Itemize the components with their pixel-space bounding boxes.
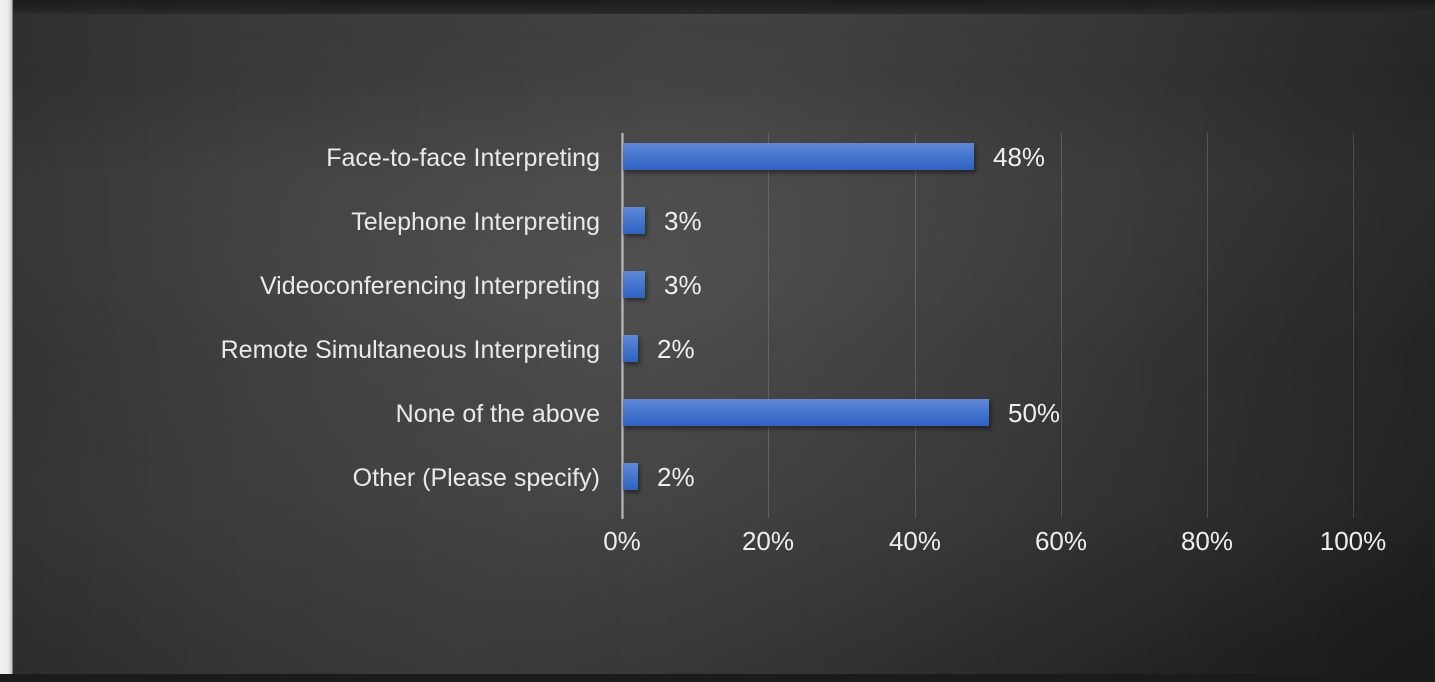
category-label-telephone-interpreting: Telephone Interpreting	[0, 210, 600, 235]
category-label-face-to-face-interpreting: Face-to-face Interpreting	[0, 146, 600, 171]
data-label-remote-simultaneous-interpreting: 2%	[657, 336, 695, 362]
category-label-remote-simultaneous-interpreting: Remote Simultaneous Interpreting	[0, 338, 600, 363]
plot-area	[622, 133, 1353, 518]
bar-face-to-face-interpreting[interactable]	[623, 143, 974, 170]
category-label-videoconferencing-interpreting: Videoconferencing Interpreting	[0, 274, 600, 299]
xtick-label-20: 20%	[742, 528, 794, 554]
gridline-80	[1207, 133, 1208, 518]
category-label-none-of-the-above: None of the above	[0, 402, 600, 427]
gridline-20	[768, 133, 769, 518]
bar-videoconferencing-interpreting[interactable]	[623, 271, 645, 298]
xtick-label-60: 60%	[1035, 528, 1087, 554]
gridline-40	[915, 133, 916, 518]
data-label-other-please-specify: 2%	[657, 464, 695, 490]
gridline-100	[1353, 133, 1354, 518]
data-label-face-to-face-interpreting: 48%	[993, 144, 1045, 170]
slide-canvas: Face-to-face Interpreting Telephone Inte…	[0, 0, 1435, 682]
data-label-telephone-interpreting: 3%	[664, 208, 702, 234]
bar-remote-simultaneous-interpreting[interactable]	[623, 335, 638, 362]
value-axis-line	[621, 133, 624, 519]
bar-none-of-the-above[interactable]	[623, 399, 989, 426]
xtick-label-0: 0%	[603, 528, 641, 554]
gridline-60	[1061, 133, 1062, 518]
bar-telephone-interpreting[interactable]	[623, 207, 645, 234]
bar-other-please-specify[interactable]	[623, 463, 638, 490]
data-label-videoconferencing-interpreting: 3%	[664, 272, 702, 298]
category-label-other-please-specify: Other (Please specify)	[0, 466, 600, 491]
horizontal-bar-chart: Face-to-face Interpreting Telephone Inte…	[0, 0, 1435, 682]
xtick-label-100: 100%	[1320, 528, 1387, 554]
xtick-label-80: 80%	[1181, 528, 1233, 554]
xtick-label-40: 40%	[889, 528, 941, 554]
data-label-none-of-the-above: 50%	[1008, 400, 1060, 426]
